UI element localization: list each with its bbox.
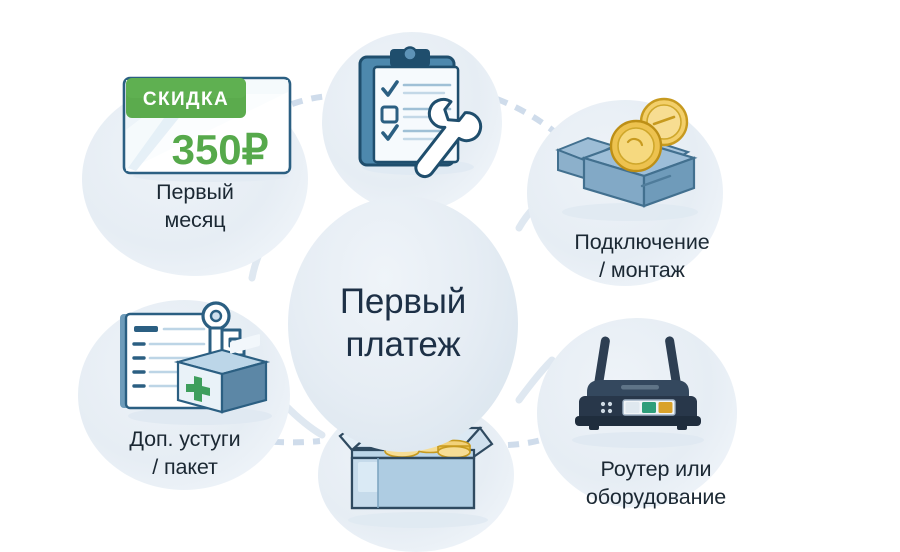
money-box-coins-icon	[548, 102, 712, 224]
infographic-canvas: СКИДКА 350₽ Первый месяц	[0, 0, 900, 552]
discount-card-icon: СКИДКА 350₽	[116, 72, 298, 182]
center-title: Первый платеж	[340, 281, 466, 366]
node-label-router: Роутер или оборудование	[540, 455, 772, 512]
center-title-line2: платеж	[340, 324, 466, 367]
center-title-line1: Первый	[340, 281, 466, 324]
router-ports	[623, 400, 675, 415]
node-label-first-month: Первый месяц	[95, 178, 295, 235]
document-key-box-icon	[110, 298, 290, 428]
clipboard-wrench-icon	[352, 45, 492, 177]
center-bubble[interactable]: Первый платеж	[288, 196, 518, 452]
node-label-extra-services: Доп. устуги / пакет	[75, 425, 295, 482]
router-icon	[553, 330, 723, 452]
discount-badge-text: СКИДКА	[143, 89, 229, 110]
node-label-installation: Подключение / монтаж	[530, 228, 754, 285]
discount-amount-text: 350₽	[172, 126, 269, 173]
